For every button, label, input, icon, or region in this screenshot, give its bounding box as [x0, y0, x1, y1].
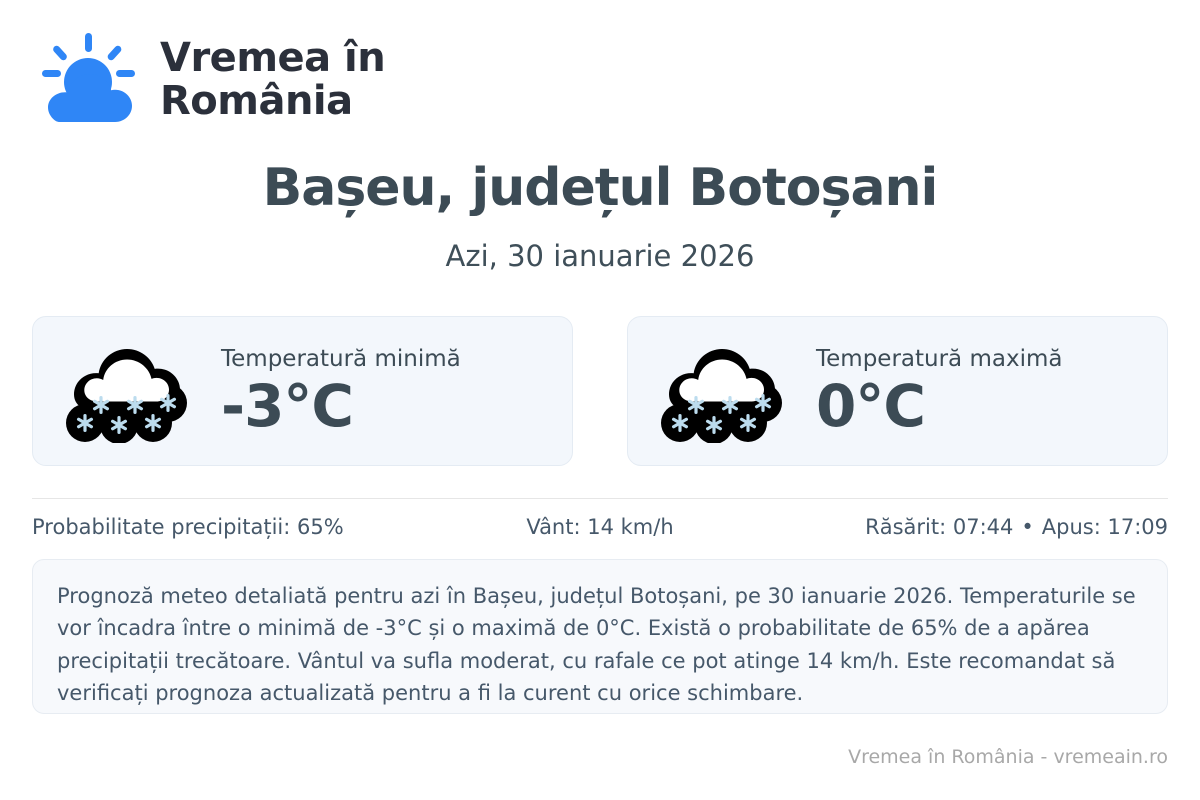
- card-temperature-max: Temperatură maximă 0°C: [627, 316, 1168, 466]
- snow-cloud-icon: [658, 339, 792, 443]
- page-subtitle: Azi, 30 ianuarie 2026: [32, 239, 1168, 274]
- card-body-max: Temperatură maximă 0°C: [816, 344, 1062, 437]
- card-value-min: -3°C: [221, 375, 461, 438]
- site-logo-text: Vremea în România: [160, 37, 385, 123]
- card-body-min: Temperatură minimă -3°C: [221, 344, 461, 437]
- stat-sunrise: Răsărit: 07:44: [865, 515, 1013, 539]
- stat-sun-times: Răsărit: 07:44•Apus: 17:09: [736, 515, 1168, 539]
- temperature-cards: Temperatură minimă -3°C: [32, 316, 1168, 466]
- forecast-description-box: Prognoză meteo detaliată pentru azi în B…: [32, 559, 1168, 714]
- weather-page: Vremea în România Bașeu, județul Botoșan…: [0, 0, 1200, 800]
- logo-line-2: România: [160, 78, 353, 124]
- forecast-description-text: Prognoză meteo detaliată pentru azi în B…: [57, 580, 1143, 709]
- card-value-max: 0°C: [816, 375, 1062, 438]
- stat-precipitation: Probabilitate precipitații: 65%: [32, 515, 464, 539]
- stat-separator: •: [1013, 515, 1041, 539]
- stat-sunset: Apus: 17:09: [1042, 515, 1168, 539]
- page-title: Bașeu, județul Botoșani: [32, 160, 1168, 217]
- card-label-min: Temperatură minimă: [221, 346, 461, 372]
- logo-line-1: Vremea în: [160, 35, 385, 81]
- snow-cloud-icon: [63, 339, 197, 443]
- card-temperature-min: Temperatură minimă -3°C: [32, 316, 573, 466]
- footer-credit: Vremea în România - vremeain.ro: [848, 746, 1168, 768]
- stat-wind: Vânt: 14 km/h: [464, 515, 737, 539]
- stats-row: Probabilitate precipitații: 65% Vânt: 14…: [32, 499, 1168, 555]
- site-logo[interactable]: Vremea în România: [32, 0, 1168, 112]
- card-label-max: Temperatură maximă: [816, 346, 1062, 372]
- sun-behind-cloud-icon: [32, 30, 142, 130]
